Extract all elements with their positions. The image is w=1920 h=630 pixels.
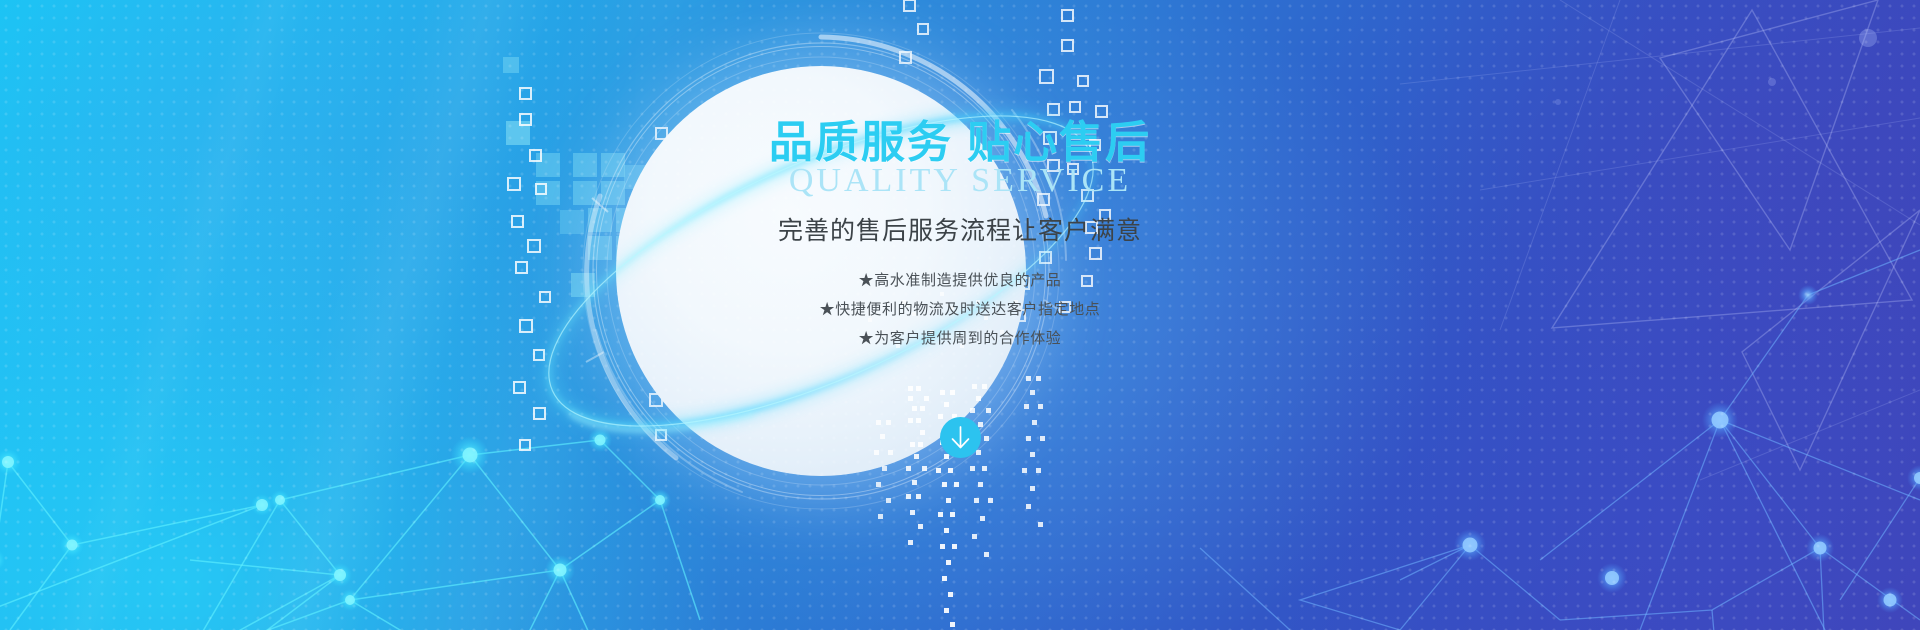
banner-point: ★高水准制造提供优良的产品 xyxy=(560,266,1360,295)
banner-point: ★快捷便利的物流及时送达客户指定地点 xyxy=(560,295,1360,324)
light-sweep-b xyxy=(2,0,367,630)
banner-title-en: QUALITY SERVICE xyxy=(560,162,1360,199)
glow-top-left xyxy=(0,0,640,460)
banner-content: 品质服务 贴心售后 QUALITY SERVICE 完善的售后服务流程让客户满意… xyxy=(560,120,1360,353)
light-sweep-a xyxy=(183,0,594,630)
banner-subtitle: 完善的售后服务流程让客户满意 xyxy=(560,215,1360,248)
banner-point: ★为客户提供周到的合作体验 xyxy=(560,324,1360,353)
scroll-down-button[interactable] xyxy=(940,417,981,458)
banner-point-list: ★高水准制造提供优良的产品 ★快捷便利的物流及时送达客户指定地点 ★为客户提供周… xyxy=(560,266,1360,354)
arrow-down-icon[interactable] xyxy=(940,417,981,458)
glow-top-right xyxy=(1360,0,1920,500)
hero-banner: 品质服务 贴心售后 QUALITY SERVICE 完善的售后服务流程让客户满意… xyxy=(0,0,1920,630)
banner-title-cn: 品质服务 贴心售后 xyxy=(560,120,1360,166)
